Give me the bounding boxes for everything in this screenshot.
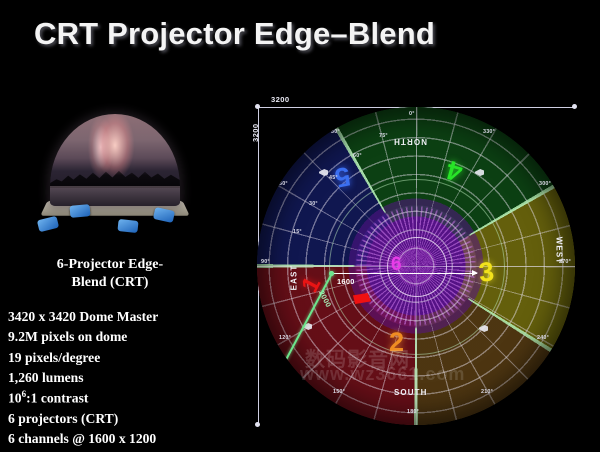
azimuth-label: 60° bbox=[279, 181, 288, 187]
elevation-label: 45° bbox=[329, 175, 338, 181]
measure-endpoint bbox=[329, 271, 334, 276]
azimuth-label: 210° bbox=[481, 389, 493, 395]
contrast-base: 10 bbox=[8, 391, 22, 406]
measure-line-1600 bbox=[331, 273, 477, 274]
spec-item-pixels-on-dome: 9.2M pixels on dome bbox=[8, 327, 222, 347]
azimuth-label: 300° bbox=[539, 181, 551, 187]
azimuth-label: 90° bbox=[261, 259, 270, 265]
compass-label-south: SOUTH bbox=[394, 388, 428, 397]
azimuth-label: 240° bbox=[537, 335, 549, 341]
channel-numeral-3: 3 bbox=[478, 258, 496, 286]
slide-root: CRT Projector Edge–Blend 6-Projector Edg… bbox=[0, 0, 600, 452]
projector-icon bbox=[37, 216, 59, 232]
measure-label-1600: 1600 bbox=[337, 277, 355, 286]
azimuth-label: 30° bbox=[331, 129, 340, 135]
elevation-label: 75° bbox=[379, 133, 388, 139]
lake-reflection bbox=[50, 186, 180, 206]
spec-item-dome-master: 3420 x 3420 Dome Master bbox=[8, 307, 222, 327]
spec-item-contrast: 106:1 contrast bbox=[8, 388, 222, 409]
elevation-label: 60° bbox=[353, 153, 362, 159]
azimuth-label: 120° bbox=[279, 335, 291, 341]
elevation-label: 15° bbox=[293, 229, 302, 235]
dome-surface bbox=[50, 114, 180, 206]
elevation-label: 30° bbox=[309, 201, 318, 207]
spec-item-channels: 6 channels @ 1600 x 1200 bbox=[8, 429, 222, 449]
dimension-label-width: 3200 bbox=[271, 95, 290, 104]
measure-endpoint bbox=[273, 373, 278, 378]
spec-item-pixels-per-degree: 19 pixels/degree bbox=[8, 348, 222, 368]
azimuth-label: 0° bbox=[409, 111, 415, 117]
spec-item-projectors: 6 projectors (CRT) bbox=[8, 409, 222, 429]
azimuth-label: 270° bbox=[559, 259, 571, 265]
compass-label-north: NORTH bbox=[393, 137, 427, 146]
azimuth-label: 330° bbox=[483, 129, 495, 135]
watermark-url: www.wz3661.com bbox=[300, 364, 465, 385]
compass-label-east: EAST bbox=[289, 265, 298, 291]
caption-line-1: 6-Projector Edge- bbox=[10, 256, 210, 274]
spec-item-lumens: 1,260 lumens bbox=[8, 368, 222, 388]
dome-caption: 6-Projector Edge- Blend (CRT) bbox=[10, 256, 210, 293]
caption-line-2: Blend (CRT) bbox=[10, 274, 210, 292]
contrast-suffix: :1 contrast bbox=[26, 391, 88, 406]
channel-numeral-6: 6 bbox=[391, 255, 402, 274]
dome-photo bbox=[14, 112, 210, 240]
projector-icon bbox=[70, 204, 91, 218]
azimuth-label: 180° bbox=[407, 409, 419, 415]
projector-icon bbox=[117, 219, 138, 233]
page-title: CRT Projector Edge–Blend bbox=[34, 16, 435, 52]
treeline-silhouette bbox=[50, 166, 180, 188]
dome-master-diagram: 3200 3200 NORT bbox=[240, 90, 592, 442]
azimuth-label: 150° bbox=[333, 389, 345, 395]
spec-list: 3420 x 3420 Dome Master 9.2M pixels on d… bbox=[8, 307, 222, 449]
